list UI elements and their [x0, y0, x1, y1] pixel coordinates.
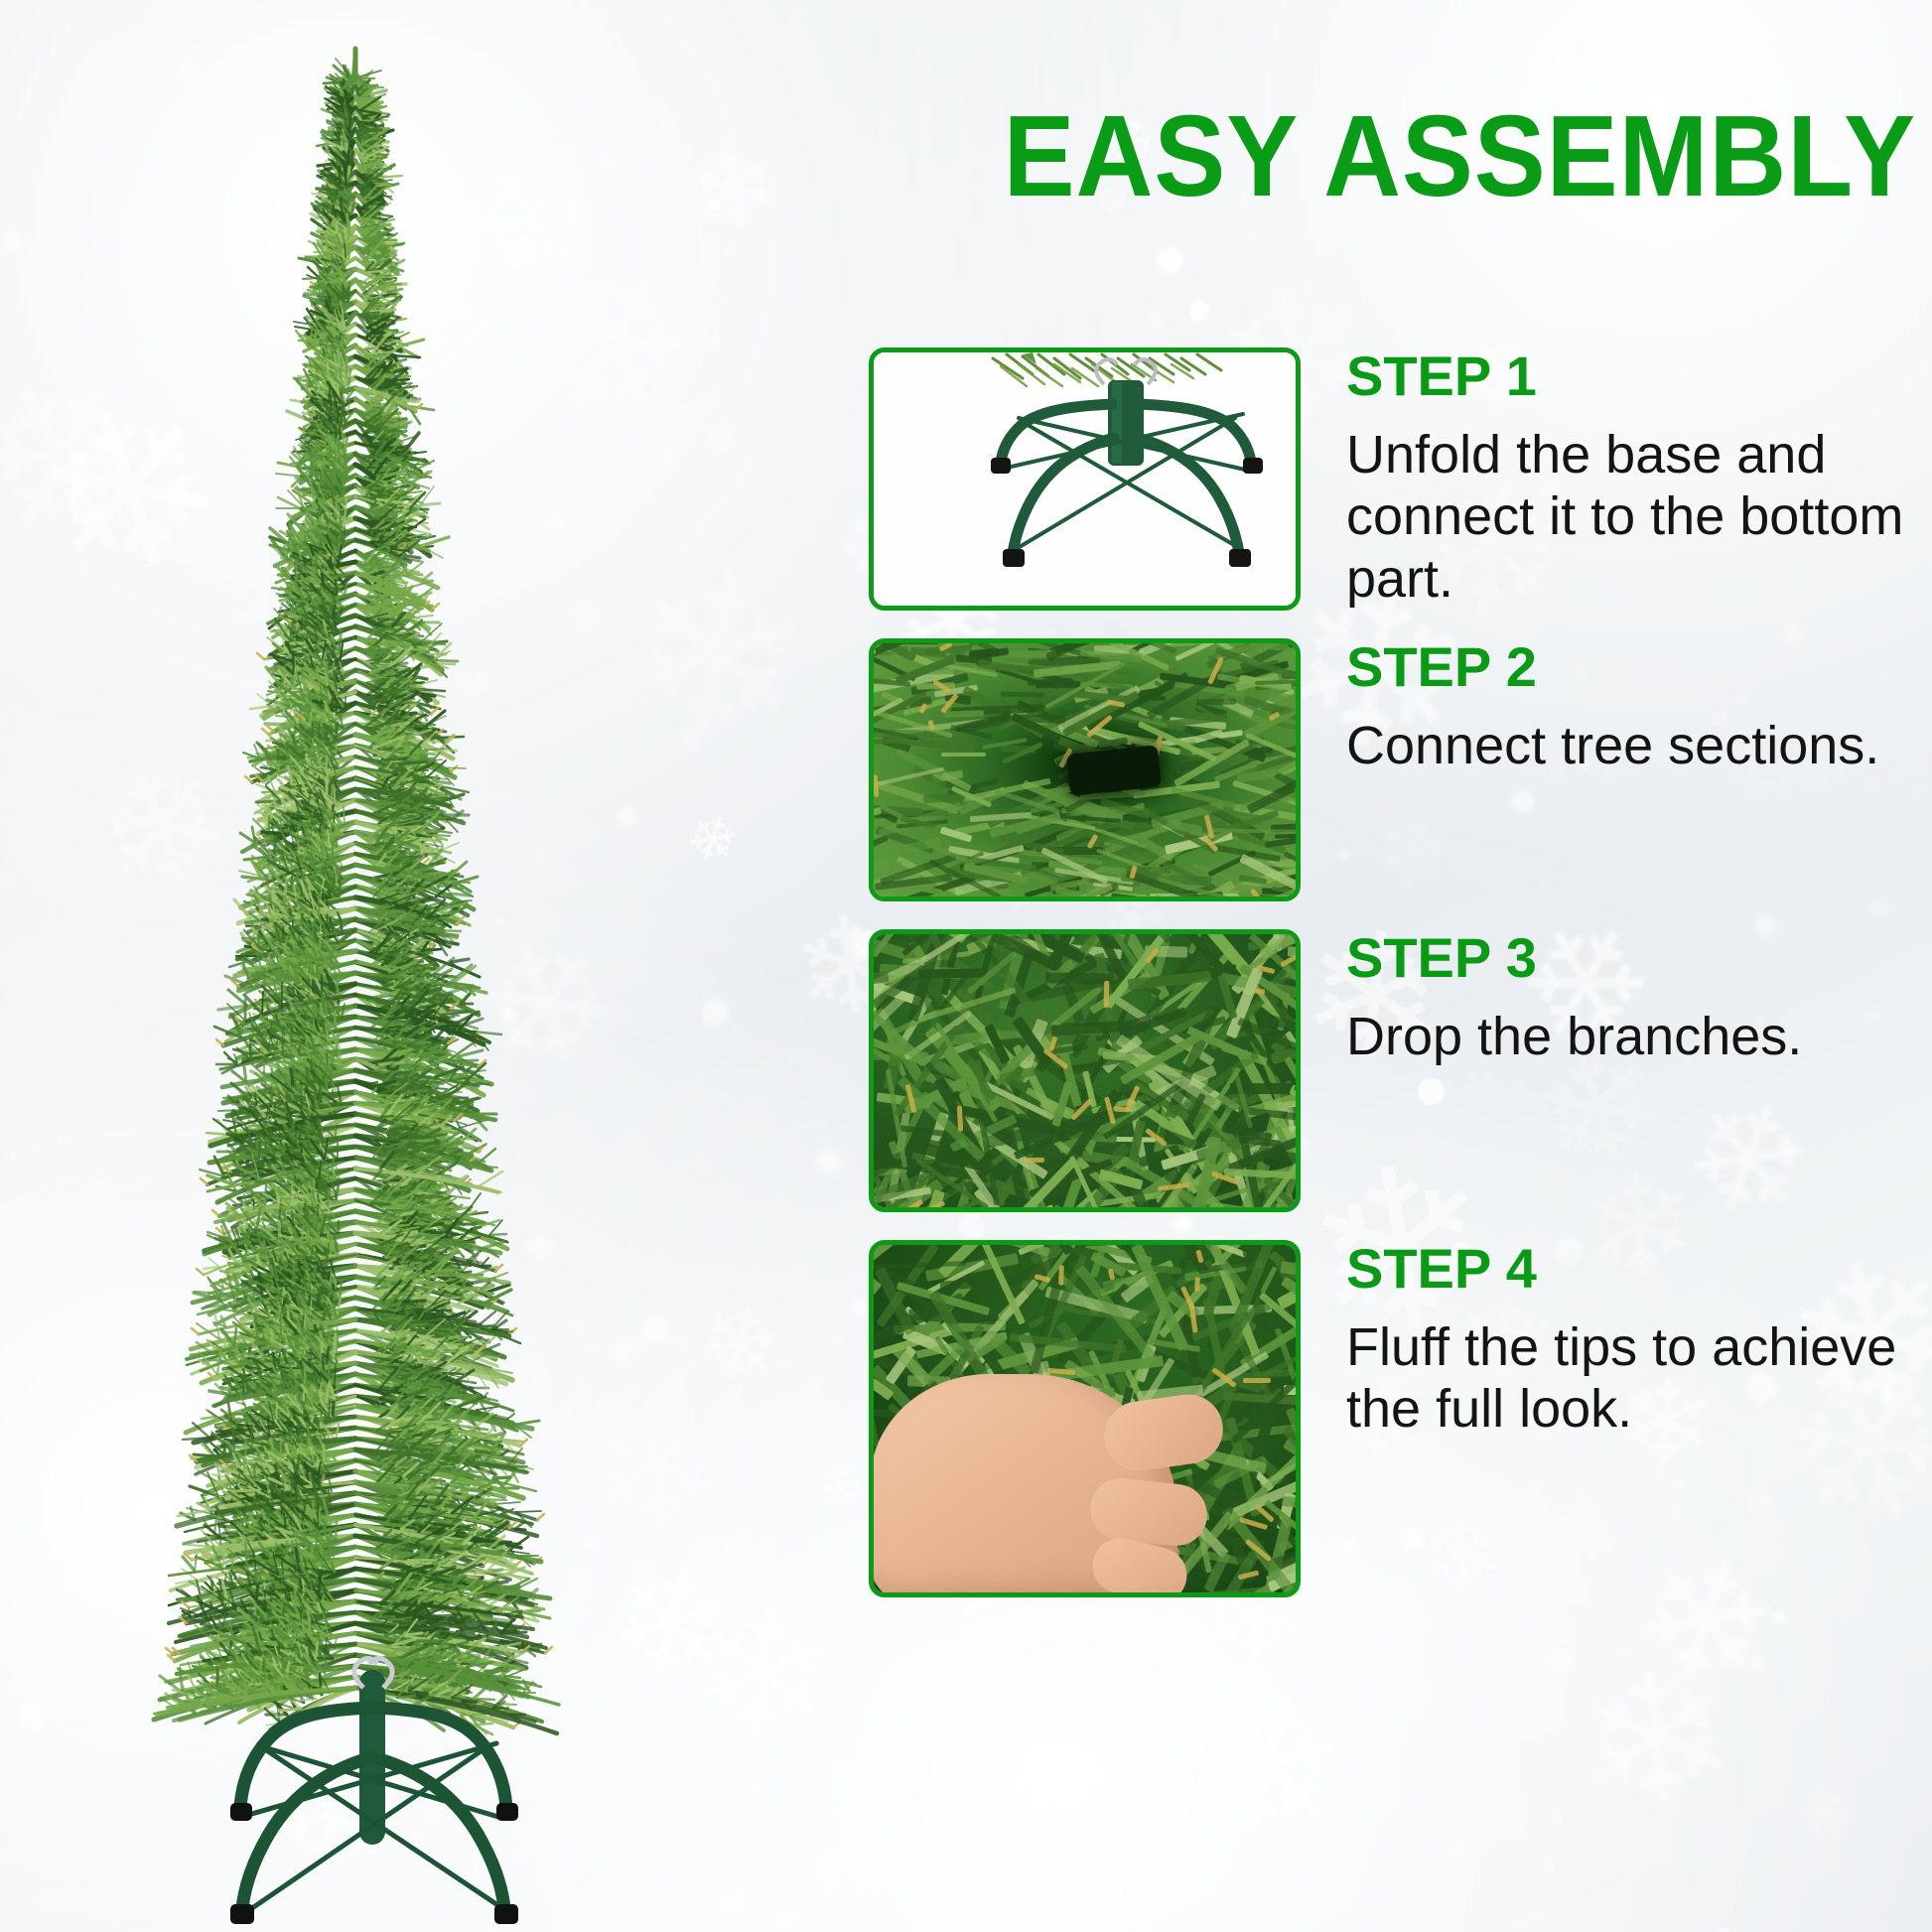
- needle-texture-2: [874, 643, 1296, 897]
- snow-dot: [1375, 1607, 1401, 1633]
- snow-dot: [1082, 1775, 1111, 1804]
- step-4-text: STEP 4 Fluff the tips to achieve the ful…: [1301, 1240, 1911, 1441]
- snow-dot: [1772, 1611, 1786, 1625]
- step-3-title: STEP 3: [1346, 929, 1911, 988]
- step-3-body: Drop the branches.: [1346, 1006, 1911, 1068]
- step-row-3: STEP 3 Drop the branches.: [869, 929, 1911, 1212]
- snow-dot: [752, 1781, 760, 1790]
- needle-texture-4: [874, 1245, 1296, 1592]
- infographic-page: ❄❄❄❄❄❄❄❄❄❄❄❄❄❄❄❄❄❄❄❄❄❄❄❄❄❄❄❄❄❄❄❄❄❄❄❄❄❄❄❄…: [0, 0, 1932, 1932]
- snow-dot: [773, 1567, 782, 1576]
- step-4-title: STEP 4: [1346, 1240, 1911, 1299]
- steps-list: STEP 1 Unfold the base and connect it to…: [869, 347, 1911, 1597]
- needle-texture-3: [874, 934, 1296, 1207]
- step-1-text: STEP 1 Unfold the base and connect it to…: [1301, 347, 1911, 611]
- christmas-tree-illustration: [79, 40, 635, 1906]
- step-1-thumbnail[interactable]: [869, 347, 1301, 611]
- step-1-title: STEP 1: [1346, 347, 1911, 406]
- snow-dot: [709, 336, 718, 345]
- snow-dot: [817, 1150, 841, 1173]
- step-row-1: STEP 1 Unfold the base and connect it to…: [869, 347, 1911, 611]
- hand-graphic: [874, 1374, 1177, 1592]
- snow-dot: [18, 1703, 45, 1729]
- step-row-4: STEP 4 Fluff the tips to achieve the ful…: [869, 1240, 1911, 1597]
- page-title: EASY ASSEMBLY: [780, 91, 1916, 220]
- snow-dot: [4, 233, 21, 250]
- step-3-thumbnail[interactable]: [869, 929, 1301, 1212]
- snow-dot: [707, 422, 735, 450]
- snow-dot: [1744, 321, 1752, 329]
- step-3-text: STEP 3 Drop the branches.: [1301, 929, 1911, 1067]
- step-4-thumbnail[interactable]: [869, 1240, 1301, 1597]
- snow-dot: [642, 1316, 669, 1343]
- step-1-body: Unfold the base and connect it to the bo…: [1346, 424, 1911, 611]
- tree-stand-illustration: [169, 1648, 586, 1932]
- step-2-thumbnail[interactable]: [869, 638, 1301, 901]
- snow-dot: [1406, 1677, 1426, 1697]
- step-4-body: Fluff the tips to achieve the full look.: [1346, 1316, 1911, 1441]
- snow-dot: [1157, 247, 1183, 274]
- snow-dot: [1148, 309, 1167, 328]
- snow-dot: [1652, 274, 1662, 284]
- step-row-2: STEP 2 Connect tree sections.: [869, 638, 1911, 901]
- step-2-title: STEP 2: [1346, 638, 1911, 697]
- snow-dot: [702, 999, 728, 1025]
- snow-dot: [1550, 1649, 1573, 1672]
- snow-dot: [727, 247, 734, 254]
- step-2-body: Connect tree sections.: [1346, 715, 1911, 777]
- snow-dot: [1189, 301, 1210, 322]
- product-tree-image: [79, 40, 635, 1906]
- step-2-text: STEP 2 Connect tree sections.: [1301, 638, 1911, 776]
- stand-photo-graphic: [874, 352, 1296, 606]
